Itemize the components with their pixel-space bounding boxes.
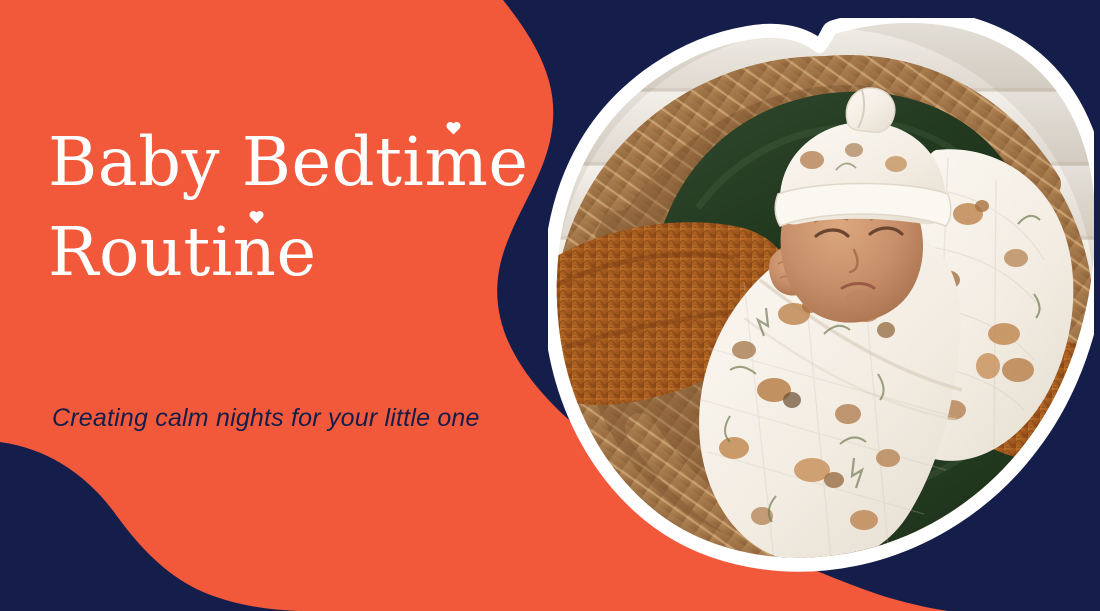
baby-hat-knot — [846, 88, 894, 132]
headline-line-1-text: Baby Bedtime — [48, 123, 529, 201]
banner: Baby Bedtime Routine Creating calm night… — [0, 0, 1100, 611]
headline-line-1: Baby Bedtime — [48, 128, 568, 196]
headline-block: Baby Bedtime Routine — [48, 128, 568, 287]
headline-line-2-text: Routine — [48, 213, 317, 291]
hero-photo-svg — [548, 18, 1094, 578]
subtitle: Creating calm nights for your little one — [52, 404, 480, 433]
hero-photo — [548, 18, 1094, 578]
page-title: Baby Bedtime Routine — [48, 128, 568, 287]
headline-line-2: Routine — [48, 218, 568, 286]
